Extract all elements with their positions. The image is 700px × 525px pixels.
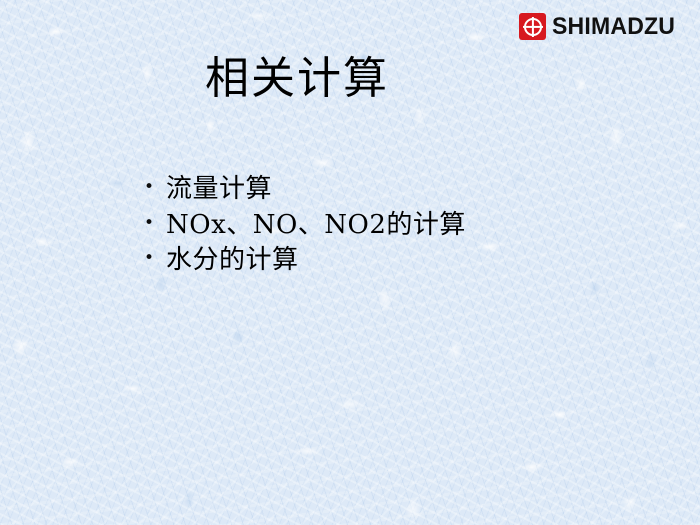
bullet-item-3: • 水分的计算 bbox=[144, 245, 574, 276]
bullet-text-1: 流量计算 bbox=[166, 174, 272, 205]
bullet-item-2: • NOx、NO、NO2的计算 bbox=[144, 210, 574, 241]
bullet-text-3: 水分的计算 bbox=[166, 245, 299, 276]
shimadzu-wordmark: SHIMADZU bbox=[552, 15, 675, 39]
presentation-slide: SHIMADZU 相关计算 • 流量计算 • NOx、NO、NO2的计算 • 水… bbox=[0, 0, 700, 525]
bullet-marker-icon: • bbox=[144, 174, 166, 201]
bullet-marker-icon: • bbox=[144, 245, 166, 272]
slide-title: 相关计算 bbox=[205, 55, 389, 103]
shimadzu-logo-mark-icon bbox=[519, 13, 546, 40]
logo-cross-vertical-shape bbox=[531, 17, 533, 37]
bullet-text-2: NOx、NO、NO2的计算 bbox=[166, 210, 466, 241]
bullet-marker-icon: • bbox=[144, 210, 166, 237]
slide-bullet-list: • 流量计算 • NOx、NO、NO2的计算 • 水分的计算 bbox=[144, 174, 574, 281]
bullet-item-1: • 流量计算 bbox=[144, 174, 574, 205]
shimadzu-logo: SHIMADZU bbox=[519, 13, 680, 40]
